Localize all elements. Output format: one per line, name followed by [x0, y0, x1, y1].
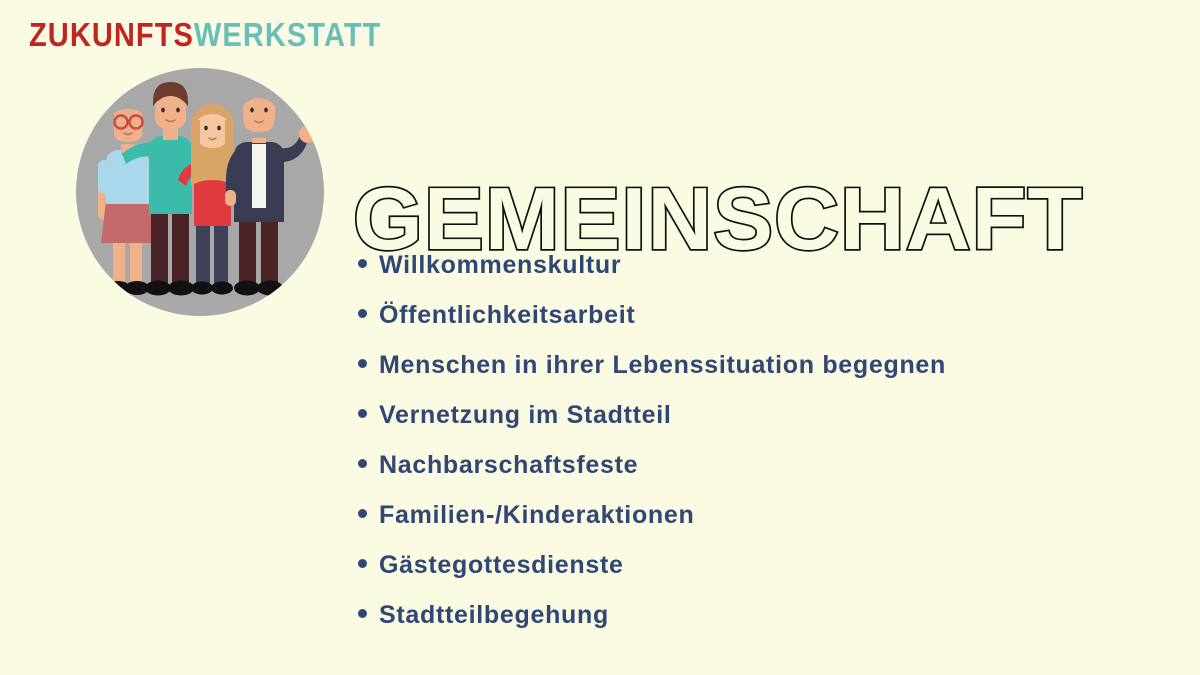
list-item-label: Willkommenskultur — [379, 250, 621, 280]
bullet-dot-icon — [358, 509, 367, 518]
bullet-list: Willkommenskultur Öffentlichkeitsarbeit … — [358, 250, 1158, 650]
list-item: Familien-/Kinderaktionen — [358, 500, 1158, 550]
list-item-label: Stadtteilbegehung — [379, 600, 609, 630]
list-item: Gästegottesdienste — [358, 550, 1158, 600]
list-item: Öffentlichkeitsarbeit — [358, 300, 1158, 350]
figure-older-man-beard — [225, 84, 317, 296]
brand-logo: ZUKUNFTSWERKSTATT — [29, 17, 381, 53]
brand-logo-part-werkstatt: WERKSTATT — [194, 16, 381, 53]
bullet-dot-icon — [358, 609, 367, 618]
illustration-container — [76, 68, 324, 316]
list-item-label: Vernetzung im Stadtteil — [379, 400, 672, 430]
list-item-label: Menschen in ihrer Lebenssituation begegn… — [379, 350, 946, 380]
list-item-label: Nachbarschaftsfeste — [379, 450, 638, 480]
bullet-dot-icon — [358, 559, 367, 568]
list-item: Menschen in ihrer Lebenssituation begegn… — [358, 350, 1158, 400]
list-item-label: Familien-/Kinderaktionen — [379, 500, 694, 530]
list-item: Vernetzung im Stadtteil — [358, 400, 1158, 450]
figure-older-woman — [98, 98, 154, 295]
list-item: Willkommenskultur — [358, 250, 1158, 300]
list-item-label: Gästegottesdienste — [379, 550, 624, 580]
slide-root: ZUKUNFTSWERKSTATT — [0, 0, 1200, 675]
bullet-dot-icon — [358, 359, 367, 368]
bullet-dot-icon — [358, 259, 367, 268]
list-item: Stadtteilbegehung — [358, 600, 1158, 650]
list-item: Nachbarschaftsfeste — [358, 450, 1158, 500]
list-item-label: Öffentlichkeitsarbeit — [379, 300, 635, 330]
brand-logo-part-zukunfts: ZUKUNFTS — [29, 16, 194, 53]
group-of-four-people-icon — [76, 68, 324, 316]
bullet-dot-icon — [358, 459, 367, 468]
bullet-dot-icon — [358, 309, 367, 318]
bullet-dot-icon — [358, 409, 367, 418]
